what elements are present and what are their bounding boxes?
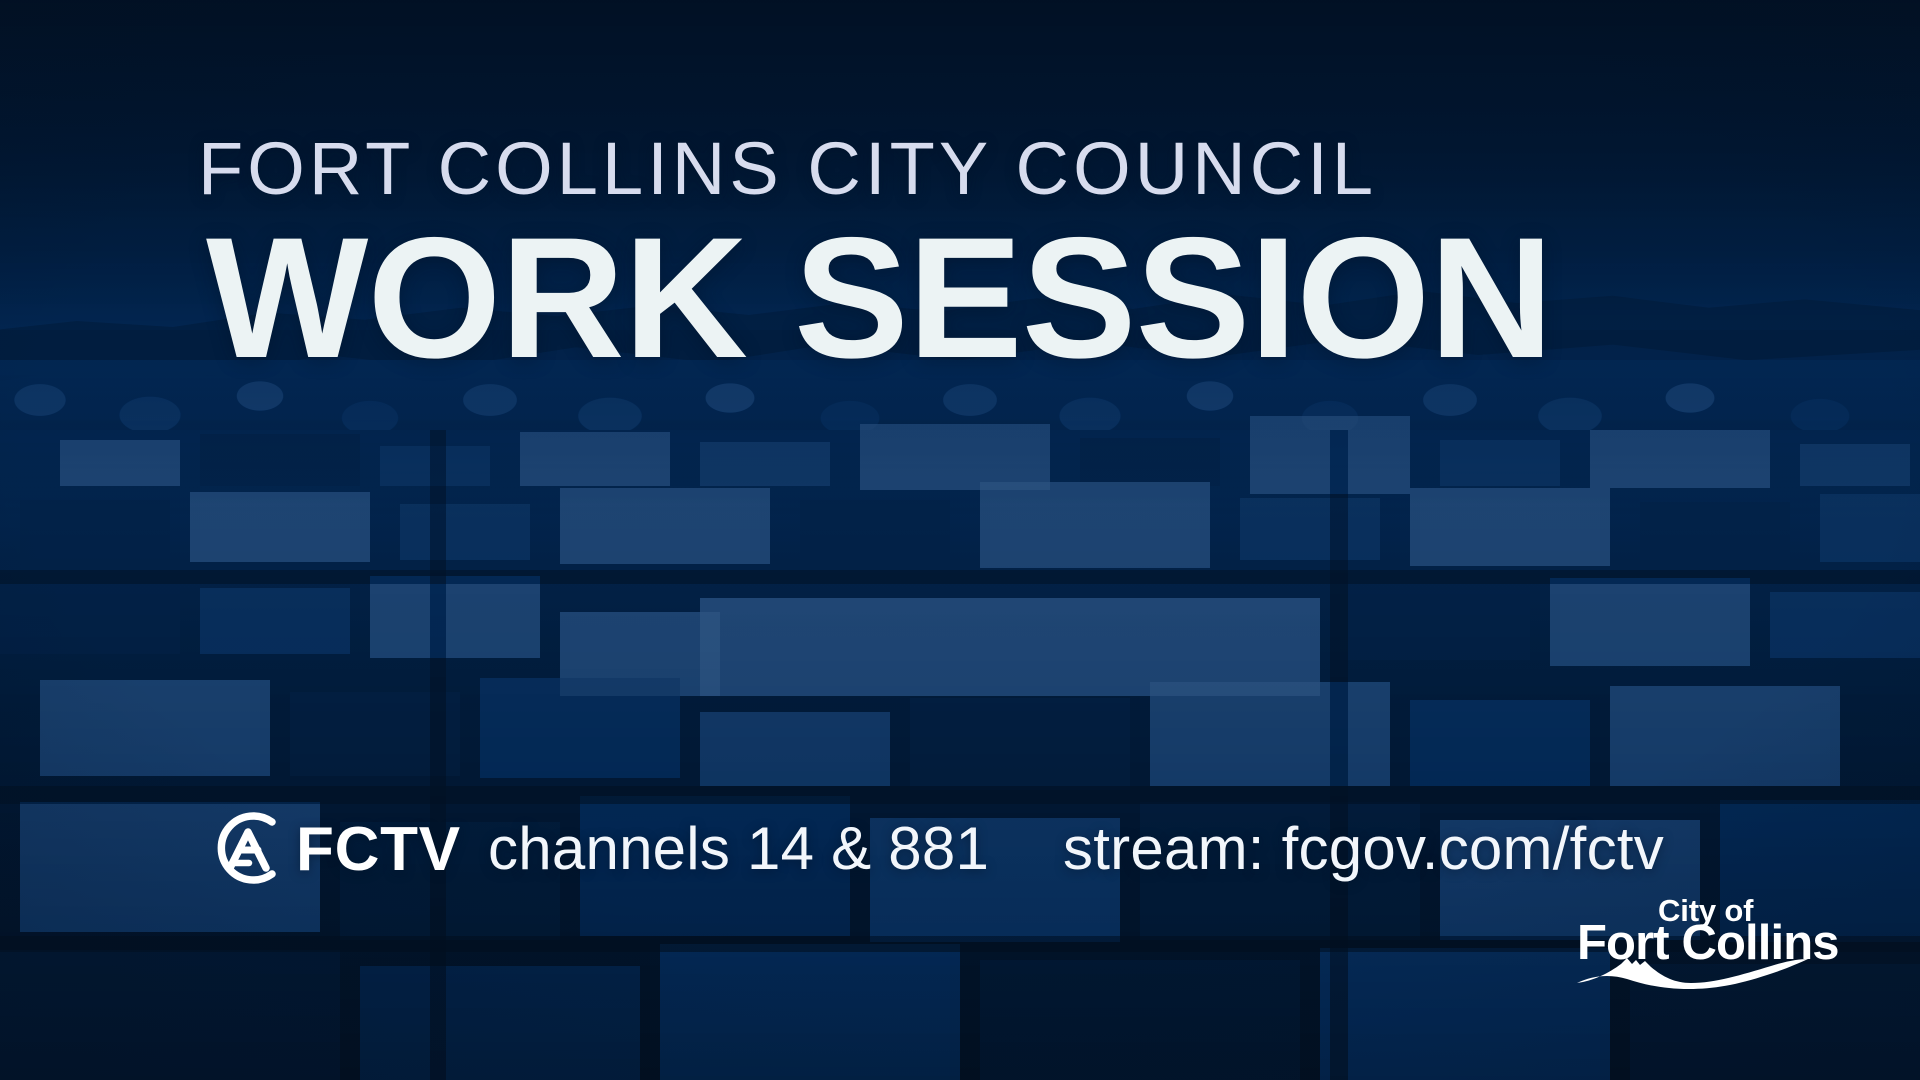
slide-content: FORT COLLINS CITY COUNCIL WORK SESSION F…	[0, 0, 1920, 1080]
city-of-fort-collins-logo: City of Fort Collins	[1575, 893, 1810, 985]
page-title: WORK SESSION	[206, 212, 1751, 384]
mountain-wave-swoosh-icon	[1575, 955, 1810, 989]
fctv-wordmark: FCTV	[296, 814, 461, 885]
stream-url-label: stream: fcgov.com/fctv	[1063, 814, 1664, 883]
slide-canvas: FORT COLLINS CITY COUNCIL WORK SESSION F…	[0, 0, 1920, 1080]
eyebrow-title: FORT COLLINS CITY COUNCIL	[198, 126, 1743, 211]
fctv-logo-icon	[200, 802, 292, 894]
channels-label: channels 14 & 881	[488, 814, 989, 883]
